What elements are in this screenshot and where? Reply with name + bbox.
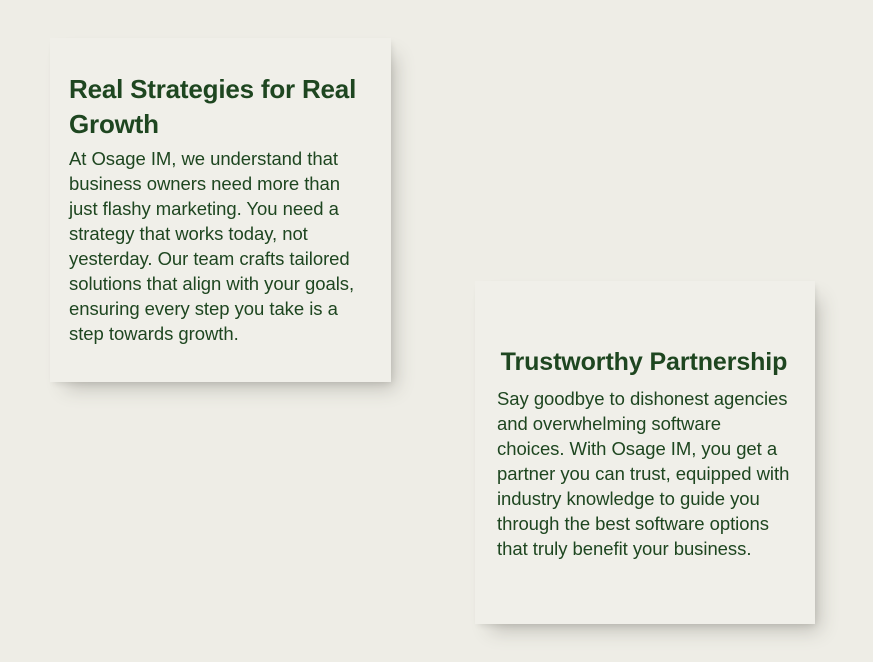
card-heading-trustworthy-partnership: Trustworthy Partnership (497, 345, 791, 380)
card-heading-real-strategies: Real Strategies for Real Growth (69, 72, 370, 142)
page-stage: Real Strategies for Real Growth At Osage… (0, 0, 873, 662)
card-real-strategies: Real Strategies for Real Growth At Osage… (50, 38, 391, 382)
card-body-real-strategies: At Osage IM, we understand that business… (69, 146, 370, 346)
card-body-trustworthy-partnership: Say goodbye to dishonest agencies and ov… (497, 386, 791, 561)
card-trustworthy-partnership: Trustworthy Partnership Say goodbye to d… (475, 281, 815, 624)
